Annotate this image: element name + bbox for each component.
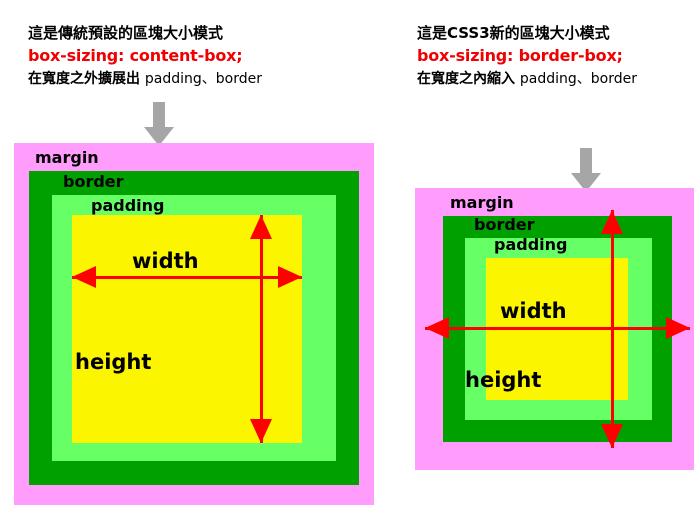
height-arrow-top-head <box>250 215 272 239</box>
width-arrow-left-head <box>425 317 449 339</box>
caption-line-detail: 在寬度之內縮入 padding、border <box>417 68 637 90</box>
height-arrow <box>601 210 623 448</box>
caption-detail-bold: 在寬度之外擴展出 <box>28 71 140 87</box>
height-arrow-bar <box>611 210 614 448</box>
height-arrow-top-head <box>601 210 623 234</box>
height-arrow-bar <box>260 215 263 443</box>
border-label: border <box>63 173 124 191</box>
caption-detail-light: padding、border <box>520 71 637 87</box>
width-arrow-left-head <box>72 266 96 288</box>
border-label: border <box>474 216 535 234</box>
down-arrow-icon <box>571 148 601 192</box>
margin-label: margin <box>35 149 99 167</box>
height-arrow-bottom-head <box>601 424 623 448</box>
width-label: width <box>132 250 199 272</box>
caption-detail-bold: 在寬度之內縮入 <box>417 71 515 87</box>
padding-label: padding <box>91 197 164 215</box>
caption-line-code: box-sizing: content-box; <box>28 44 262 68</box>
caption-line-description: 這是CSS3新的區塊大小模式 <box>417 22 637 44</box>
width-arrow-right-head <box>278 266 302 288</box>
width-arrow-right-head <box>666 317 690 339</box>
height-label: height <box>75 351 151 373</box>
box-model-diagram-content-box: margin border padding width height <box>14 143 374 505</box>
down-arrow-shaft <box>580 148 592 174</box>
caption-line-detail: 在寬度之外擴展出 padding、border <box>28 68 262 90</box>
margin-label: margin <box>450 194 514 212</box>
padding-label: padding <box>494 236 567 254</box>
width-label: width <box>500 300 567 322</box>
caption-content-box: 這是傳統預設的區塊大小模式 box-sizing: content-box; 在… <box>28 22 262 90</box>
height-arrow <box>250 215 272 443</box>
height-label: height <box>465 369 541 391</box>
caption-line-code: box-sizing: border-box; <box>417 44 637 68</box>
caption-detail-light: padding、border <box>145 71 262 87</box>
box-model-diagram-border-box: margin border padding width height <box>415 188 694 470</box>
width-arrow-bar <box>425 327 690 330</box>
down-arrow-shaft <box>153 102 165 128</box>
caption-line-description: 這是傳統預設的區塊大小模式 <box>28 22 262 44</box>
height-arrow-bottom-head <box>250 419 272 443</box>
caption-border-box: 這是CSS3新的區塊大小模式 box-sizing: border-box; 在… <box>417 22 637 90</box>
down-arrow-icon <box>144 102 174 146</box>
